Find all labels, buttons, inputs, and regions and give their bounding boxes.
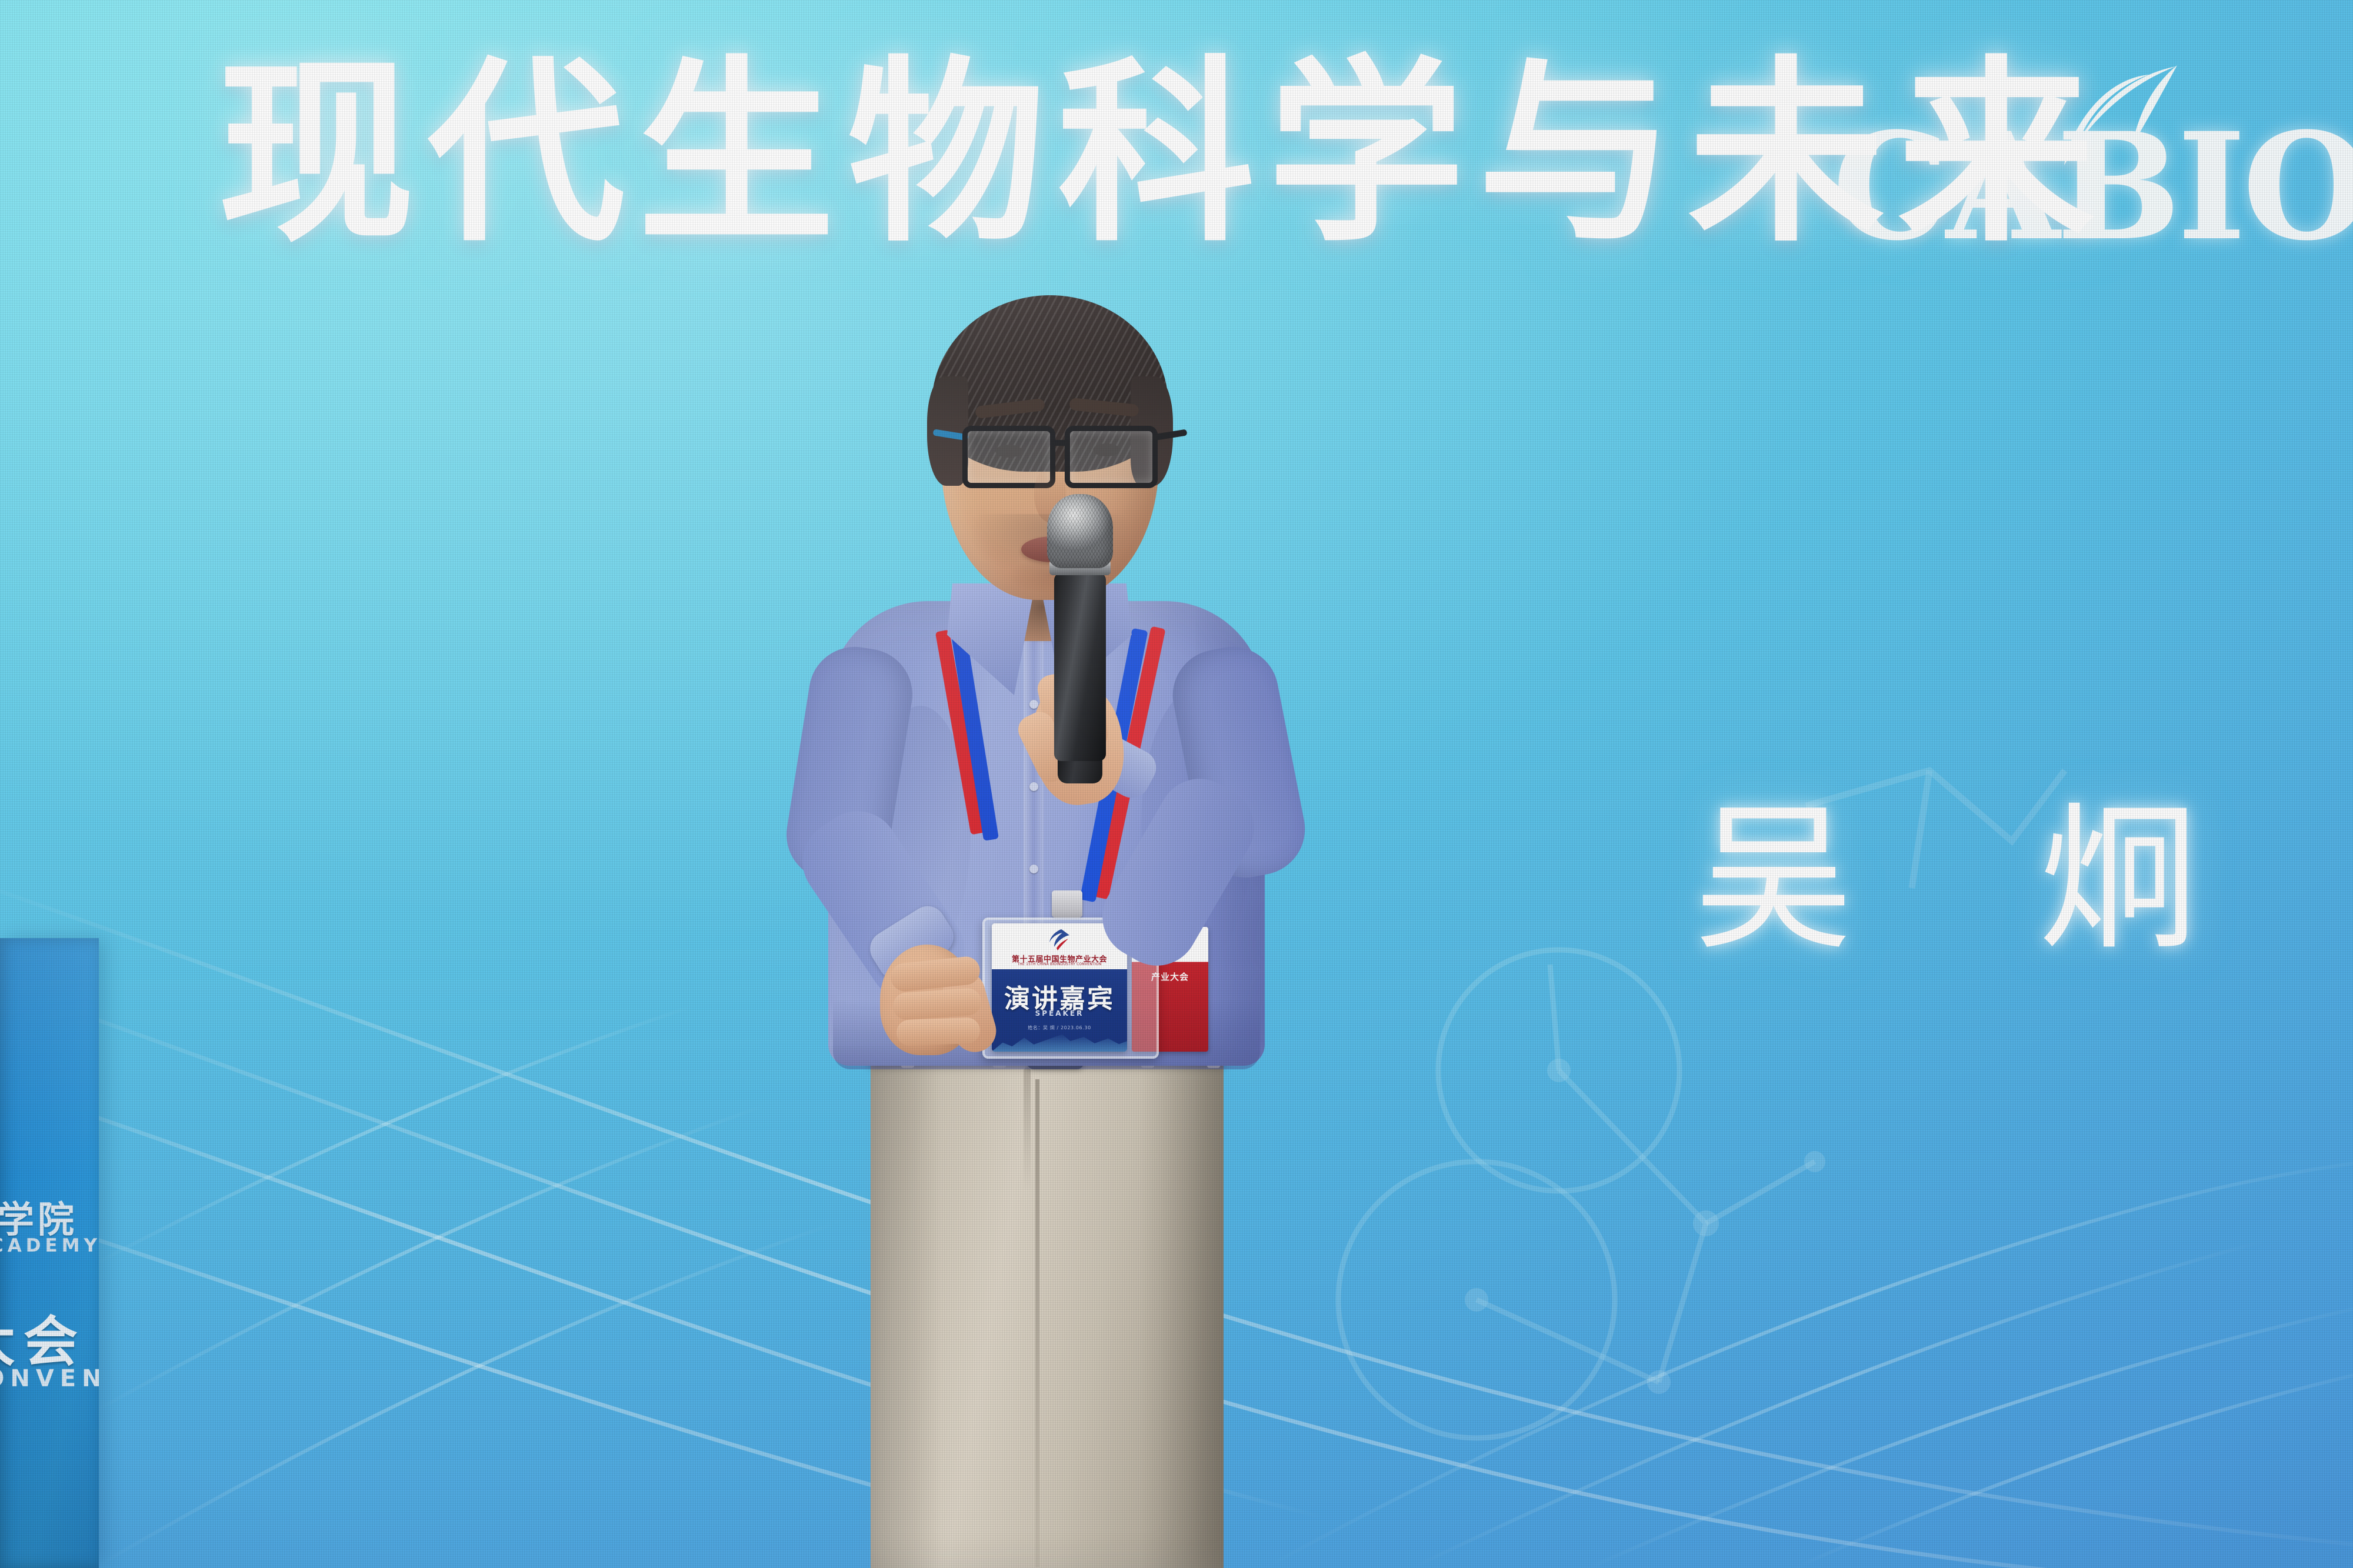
molecule-structure-icon: [1282, 894, 1859, 1459]
trousers-crease: [1035, 1079, 1039, 1567]
shirt-button: [1029, 865, 1038, 873]
speaker-figure: 产业大会 第十五届中国生物产业大会 THE 15TH CHINA BIOINDU…: [694, 453, 1318, 1568]
page-title: 现代生物科学与未来: [218, 56, 2108, 253]
finger: [896, 1017, 980, 1046]
floor-banner: 科学院 ACADEMY 大会 CONVENTION: [0, 938, 99, 1568]
banner-line-en-2: CONVENTION: [0, 1365, 99, 1392]
eyeglasses-icon: [1065, 426, 1158, 488]
microphone-body: [1054, 573, 1106, 761]
trousers-fly: [1024, 1067, 1031, 1191]
glasses-bridge: [1053, 440, 1068, 446]
speaker-badge: 第十五届中国生物产业大会 THE 15TH CHINA BIOINDUSTRY …: [992, 923, 1127, 1052]
trousers-shade-right: [1141, 1041, 1224, 1568]
shirt-button: [1029, 782, 1038, 791]
microphone-mesh: [1047, 494, 1113, 568]
trousers-shade-left: [871, 1041, 941, 1568]
stage-photo: 现代生物科学与未来 CABIO 吴 炯: [0, 0, 2353, 1568]
badge-meta: 姓名：吴 炯 / 2023.06.30: [992, 1025, 1127, 1032]
lanyard-clip: [1052, 890, 1082, 918]
badge-header-en: THE 15TH CHINA BIOINDUSTRY CONVENTION: [1000, 962, 1119, 966]
speaker-name: 吴 炯: [1694, 800, 2265, 959]
bio-convention-logo-icon: [1044, 928, 1074, 952]
badge-subtitle: SPEAKER: [992, 1009, 1127, 1017]
banner-line-en-1: ACADEMY: [0, 1235, 99, 1256]
